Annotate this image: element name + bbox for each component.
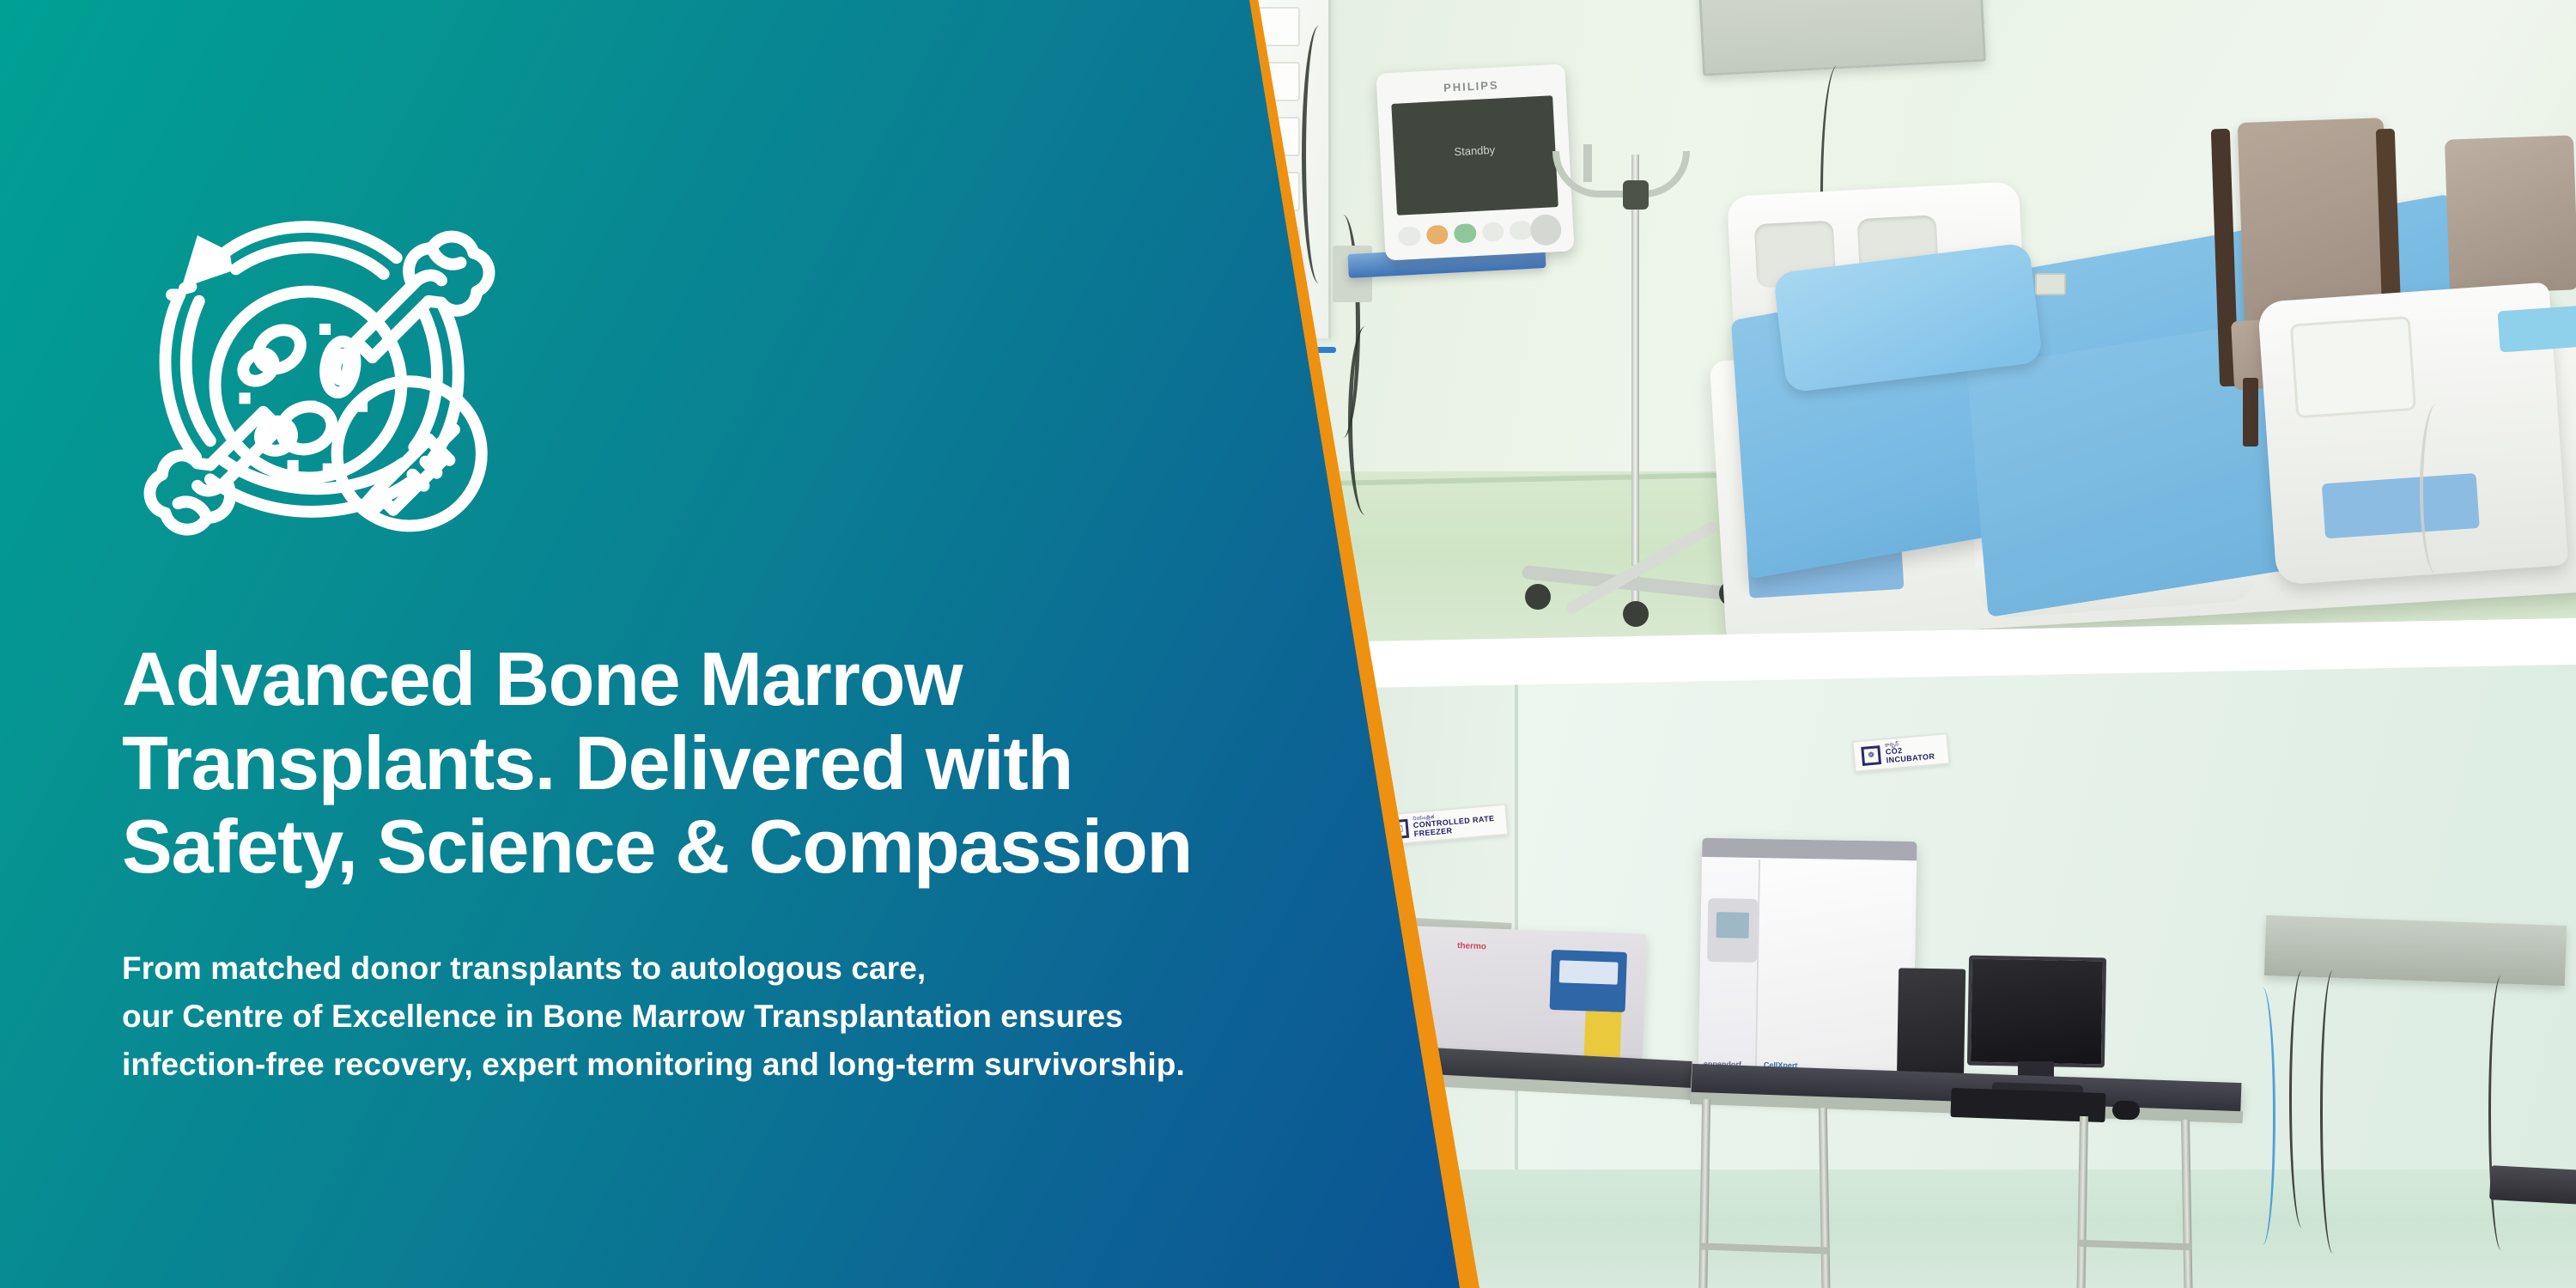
- computer-monitor: [1967, 956, 2106, 1068]
- lab-stool: [2489, 1165, 2576, 1205]
- visitor-chair-secondary: [2445, 135, 2576, 294]
- wall-outlet: [2035, 273, 2066, 295]
- call-bell-cord: [2420, 404, 2454, 575]
- hero-banner: PHILIPS Standby: [0, 0, 2576, 1288]
- cable: [2250, 987, 2275, 1245]
- bedside-tray: [2497, 304, 2576, 353]
- sign-label: CO2 INCUBATOR: [1886, 744, 1941, 764]
- headline-line-3: Safety, Science & Compassion: [122, 805, 1376, 889]
- freezer-control-panel: [1550, 950, 1627, 1012]
- cable: [2289, 970, 2315, 1228]
- banner-content: Advanced Bone Marrow Transplants. Delive…: [0, 0, 1460, 1288]
- iv-caster: [1623, 601, 1649, 627]
- mouse: [2112, 1100, 2141, 1120]
- wall-corner: [1515, 661, 1518, 1182]
- warning-sticker: [1584, 1011, 1622, 1056]
- headline-line-1: Advanced Bone Marrow: [122, 637, 1376, 721]
- incubator-pictogram-icon: ❁: [1861, 745, 1881, 766]
- subcopy-line-2: our Centre of Excellence in Bone Marrow …: [122, 993, 1427, 1041]
- cable: [2488, 975, 2514, 1250]
- cable: [2320, 970, 2346, 1254]
- iv-caster: [1525, 584, 1551, 610]
- page-title: Advanced Bone Marrow Transplants. Delive…: [122, 637, 1376, 889]
- subheadline: From matched donor transplants to autolo…: [122, 945, 1427, 1090]
- iv-hook-stem: [1583, 144, 1592, 182]
- chair-leg: [2243, 378, 2258, 447]
- bed-control-panel: [2290, 316, 2416, 418]
- iv-pole: [1631, 155, 1639, 610]
- subcopy-line-3: infection-free recovery, expert monitori…: [122, 1041, 1427, 1089]
- co2-incubator: eppendorf CellXpert: [1698, 838, 1917, 1091]
- incubator-display: [1707, 898, 1758, 963]
- subcopy-line-1: From matched donor transplants to autolo…: [122, 945, 1427, 993]
- footboard-accent: [2322, 473, 2480, 538]
- incubator-door: [1755, 860, 1913, 1084]
- freezer-brand-label: thermo: [1457, 941, 1486, 951]
- desktop-tower: [1897, 968, 1965, 1087]
- incubator-top-cap: [1702, 838, 1917, 860]
- bone-marrow-transplant-icon: [122, 187, 517, 556]
- iv-clamp: [1623, 180, 1649, 210]
- wall-shelf: [2264, 915, 2567, 986]
- headline-line-2: Transplants. Delivered with: [122, 721, 1376, 805]
